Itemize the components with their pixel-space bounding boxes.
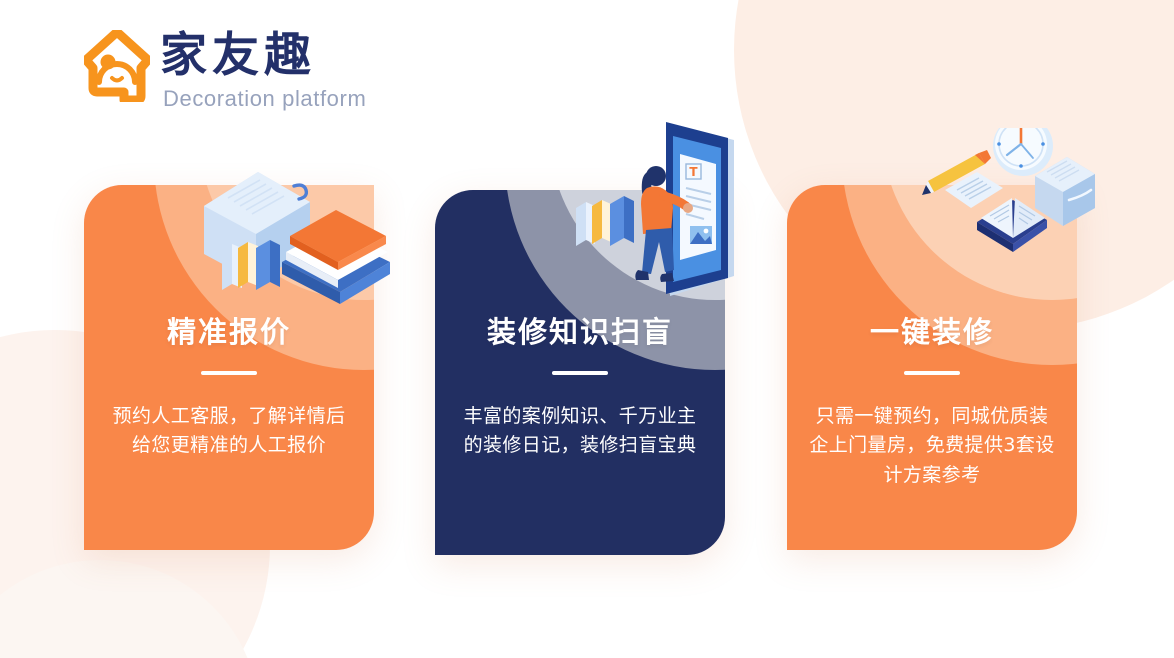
brand-subtitle: Decoration platform <box>163 86 366 112</box>
card-title: 一键装修 <box>870 318 994 347</box>
card-title: 装修知识扫盲 <box>487 318 673 347</box>
feature-card-one-click-decoration[interactable]: 一键装修 只需一键预约，同城优质装企上门量房，免费提供3套设计方案参考 <box>787 185 1077 550</box>
card-description: 只需一键预约，同城优质装企上门量房，免费提供3套设计方案参考 <box>808 402 1056 490</box>
card-description: 预约人工客服，了解详情后给您更精准的人工报价 <box>105 402 353 461</box>
feature-card-decoration-knowledge[interactable]: 装修知识扫盲 丰富的案例知识、千万业主的装修日记，装修扫盲宝典 <box>435 190 725 555</box>
card-divider <box>201 371 257 375</box>
card-title: 精准报价 <box>167 318 291 347</box>
feature-card-precise-quote[interactable]: 精准报价 预约人工客服，了解详情后给您更精准的人工报价 <box>84 185 374 550</box>
brand-title: 家友趣 <box>160 32 366 79</box>
card-description: 丰富的案例知识、千万业主的装修日记，装修扫盲宝典 <box>456 402 704 461</box>
brand-logo[interactable]: 家友趣 Decoration platform <box>84 26 366 112</box>
card-divider <box>552 371 608 375</box>
card-divider <box>904 371 960 375</box>
house-person-icon <box>84 30 150 102</box>
